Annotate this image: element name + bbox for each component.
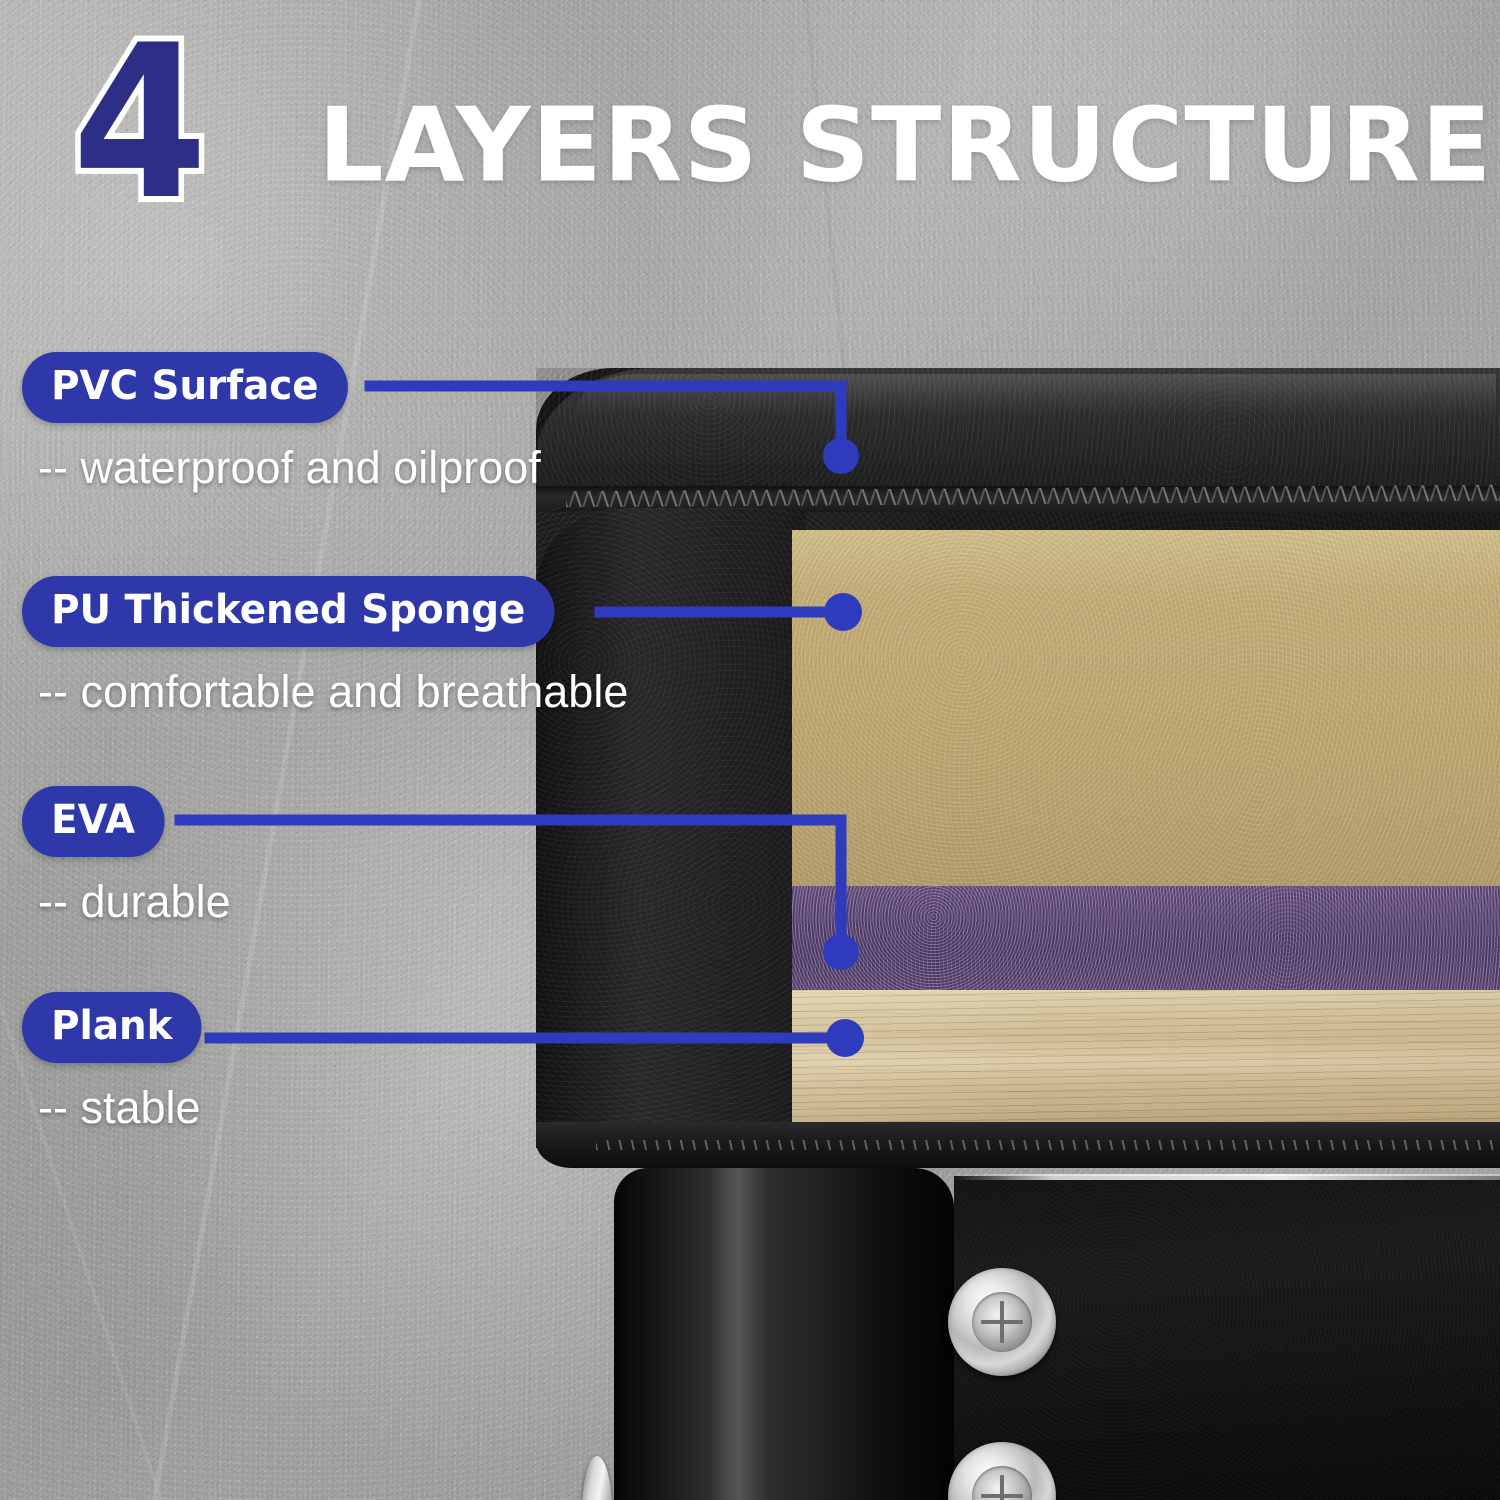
layer-plank — [792, 990, 1500, 1126]
callout-plank: Plank -- stable — [22, 992, 207, 1133]
callout-label-eva[interactable]: EVA — [22, 786, 164, 857]
callout-eva: EVA -- durable — [22, 786, 231, 927]
product-cutaway-photo — [536, 368, 1500, 1500]
callout-description-plank: -- stable — [38, 1083, 207, 1133]
callout-pvc-surface: PVC Surface -- waterproof and oilproof — [22, 352, 541, 493]
metal-post-highlight — [710, 1168, 768, 1500]
infographic-canvas: 4 LAYERS STRUCTURE PVC Surface -- waterp… — [0, 0, 1500, 1500]
base-leather-rail — [536, 1122, 1500, 1168]
base-rail-stitching — [596, 1140, 1500, 1150]
pvc-top-highlight — [576, 374, 1496, 414]
screw-icon — [948, 1268, 1056, 1376]
title-text: LAYERS STRUCTURE — [318, 94, 1500, 198]
callout-label-pu-thickened-sponge[interactable]: PU Thickened Sponge — [22, 576, 554, 647]
callout-label-pvc-surface[interactable]: PVC Surface — [22, 352, 348, 423]
layer-stack — [792, 530, 1500, 1138]
metal-plate-top-highlight — [954, 1174, 1500, 1180]
callout-description-eva: -- durable — [38, 877, 231, 927]
callout-pu-thickened-sponge: PU Thickened Sponge -- comfortable and b… — [22, 576, 628, 717]
layer-pu-sponge — [792, 530, 1500, 886]
screw-head-cross — [972, 1292, 1032, 1352]
eva-foam-texture — [792, 886, 1500, 990]
callout-description-pvc-surface: -- waterproof and oilproof — [38, 443, 541, 493]
screw-head-cross — [972, 1466, 1032, 1500]
callout-description-pu-thickened-sponge: -- comfortable and breathable — [38, 667, 628, 717]
plank-wood-grain-texture — [792, 990, 1500, 1126]
metal-frame-post — [614, 1168, 954, 1500]
callout-label-plank[interactable]: Plank — [22, 992, 202, 1063]
sponge-foam-texture — [792, 530, 1500, 886]
layer-eva — [792, 886, 1500, 990]
rivet-icon — [582, 1456, 612, 1500]
layer-count-number: 4 — [72, 20, 202, 225]
page-title: 4 LAYERS STRUCTURE — [0, 18, 1500, 233]
